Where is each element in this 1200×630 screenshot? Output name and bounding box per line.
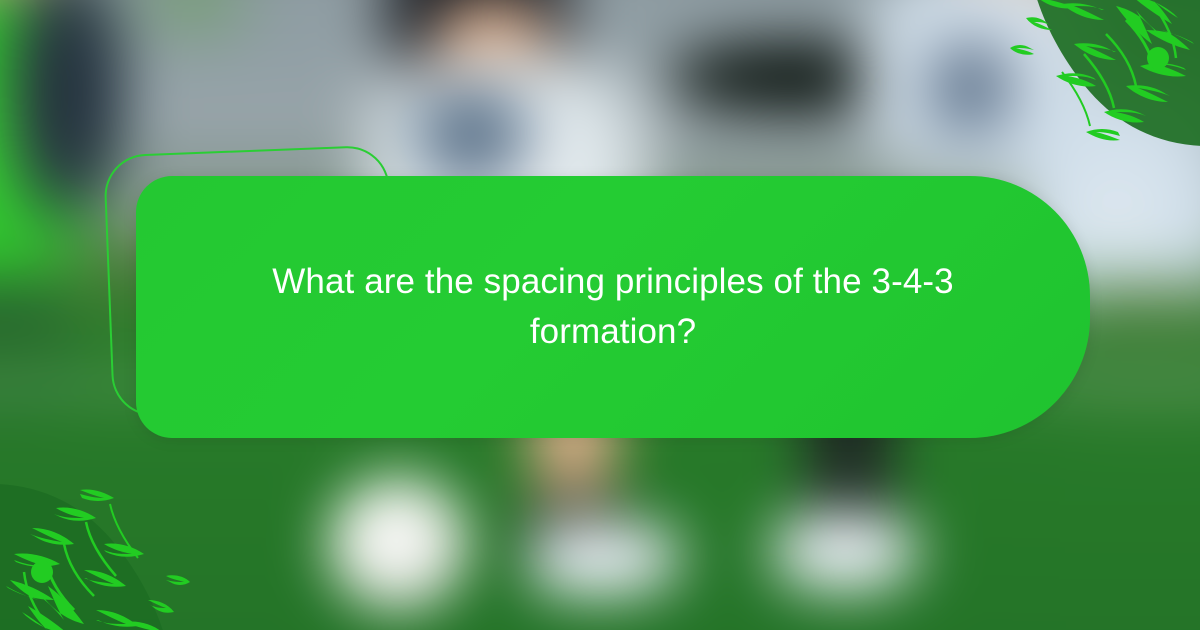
question-text: What are the spacing principles of the 3… <box>243 257 983 356</box>
question-card[interactable]: What are the spacing principles of the 3… <box>136 176 1090 438</box>
player-center-shoe <box>528 520 687 603</box>
player-right-shoe <box>765 511 924 598</box>
background-bokeh-left <box>119 0 267 53</box>
player-right-shadow <box>913 24 1030 151</box>
soccer-ball <box>329 477 469 611</box>
question-card-stage: What are the spacing principles of the 3… <box>0 0 1200 630</box>
